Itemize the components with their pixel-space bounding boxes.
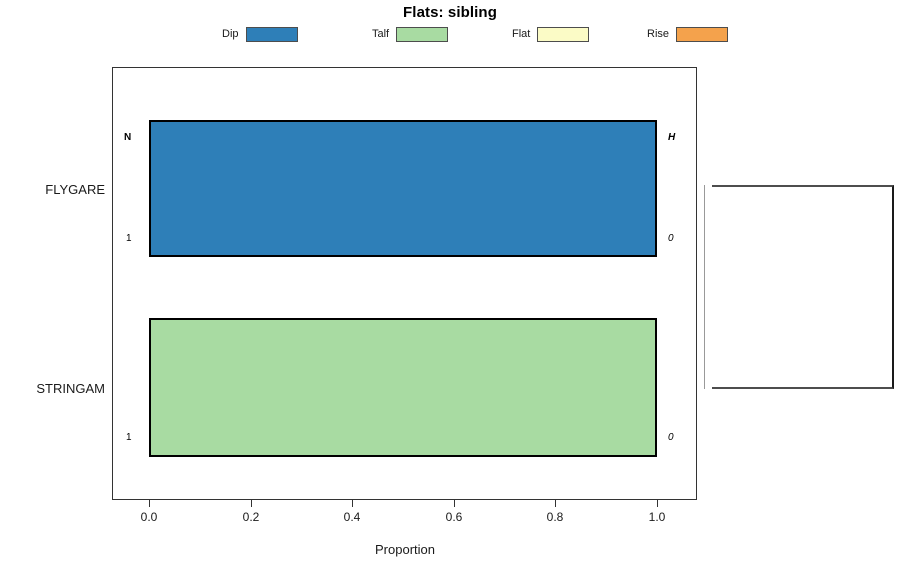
x-tick-mark-4 xyxy=(555,500,556,507)
bar-stringam-talf[interactable] xyxy=(149,318,657,457)
bar-note-flygare-top-right: H xyxy=(668,132,675,143)
x-tick-mark-0 xyxy=(149,500,150,507)
bar-note-flygare-top-left: N xyxy=(124,132,131,143)
bar-flygare-dip[interactable] xyxy=(149,120,657,257)
legend-swatch-dip xyxy=(246,27,298,42)
x-tick-mark-2 xyxy=(352,500,353,507)
bar-note-stringam-bottom-right: 0 xyxy=(668,432,674,443)
chart-canvas: Flats: sibling Dip Talf Flat Rise N H 1 … xyxy=(0,0,900,580)
legend-label-flat: Flat xyxy=(512,28,530,40)
x-tick-mark-1 xyxy=(251,500,252,507)
legend-swatch-flat xyxy=(537,27,589,42)
side-box-left-rule xyxy=(704,185,705,389)
legend-label-dip: Dip xyxy=(222,28,239,40)
bar-note-flygare-bottom-left: 1 xyxy=(126,233,132,244)
x-axis-title: Proportion xyxy=(0,542,810,557)
x-tick-mark-5 xyxy=(657,500,658,507)
x-tick-label-3: 0.6 xyxy=(434,510,474,524)
legend-entry-talf[interactable]: Talf xyxy=(372,26,448,42)
x-tick-label-0: 0.0 xyxy=(129,510,169,524)
x-tick-mark-3 xyxy=(454,500,455,507)
legend-entry-dip[interactable]: Dip xyxy=(222,26,298,42)
legend-swatch-rise xyxy=(676,27,728,42)
bar-note-flygare-bottom-right: 0 xyxy=(668,233,674,244)
x-tick-label-1: 0.2 xyxy=(231,510,271,524)
legend-entry-rise[interactable]: Rise xyxy=(647,26,728,42)
x-tick-label-2: 0.4 xyxy=(332,510,372,524)
legend-label-rise: Rise xyxy=(647,28,669,40)
legend-entry-flat[interactable]: Flat xyxy=(512,26,589,42)
legend-label-talf: Talf xyxy=(372,28,389,40)
side-annotation-box xyxy=(712,185,894,389)
legend-swatch-talf xyxy=(396,27,448,42)
x-tick-label-4: 0.8 xyxy=(535,510,575,524)
chart-legend: Dip Talf Flat Rise xyxy=(222,26,682,42)
bar-note-stringam-bottom-left: 1 xyxy=(126,432,132,443)
chart-title: Flats: sibling xyxy=(0,4,900,21)
x-tick-label-5: 1.0 xyxy=(637,510,677,524)
y-axis-label-stringam: STRINGAM xyxy=(0,381,105,396)
y-axis-label-flygare: FLYGARE xyxy=(0,182,105,197)
